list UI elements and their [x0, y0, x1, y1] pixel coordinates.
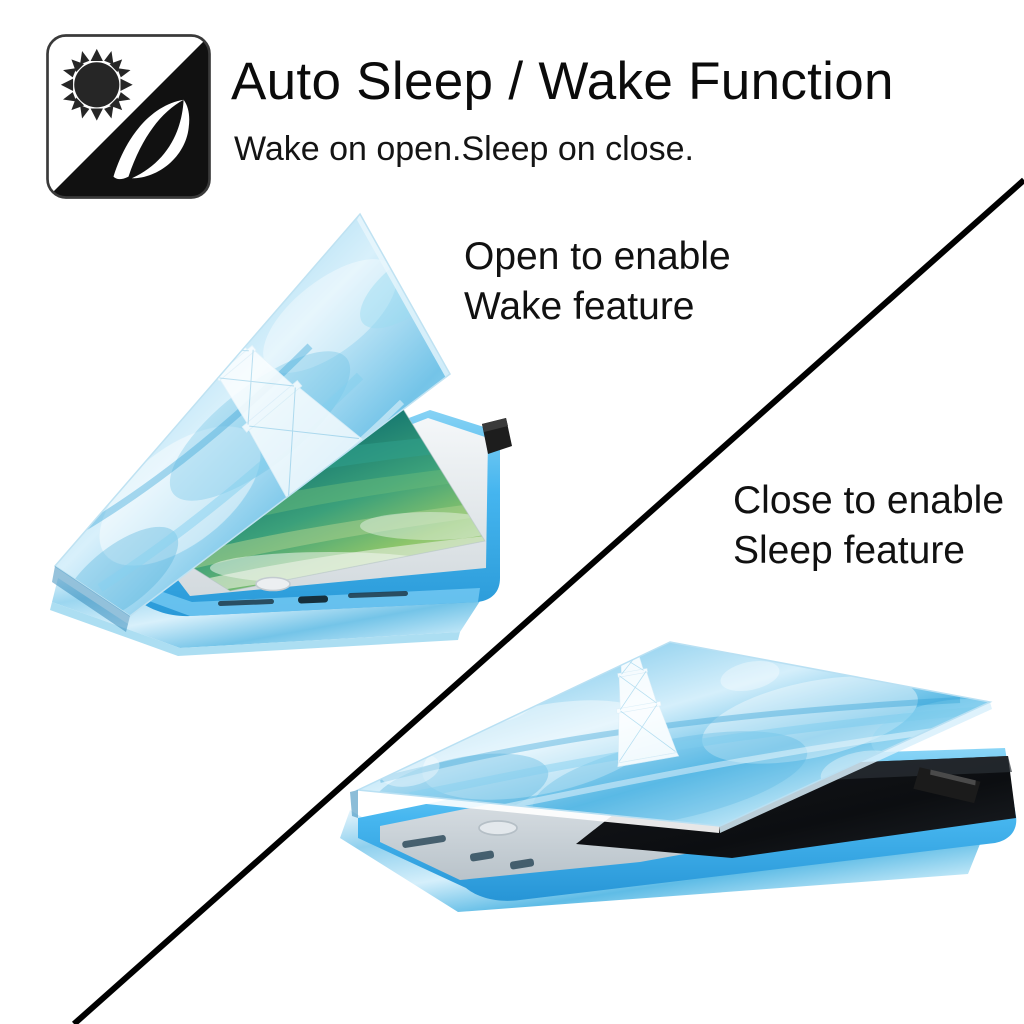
home-button	[256, 578, 290, 591]
home-button	[479, 821, 517, 835]
tablet-case-closing-photo	[340, 630, 1024, 960]
infographic-page: Auto Sleep / Wake Function Wake on open.…	[0, 0, 1024, 1024]
tablet-case-open-photo	[30, 196, 530, 666]
callout-close-line1: Close to enable	[733, 476, 1004, 526]
callout-close-sleep: Close to enable Sleep feature	[733, 476, 1004, 576]
lightning-port	[298, 595, 328, 603]
callout-close-line2: Sleep feature	[733, 526, 1004, 576]
